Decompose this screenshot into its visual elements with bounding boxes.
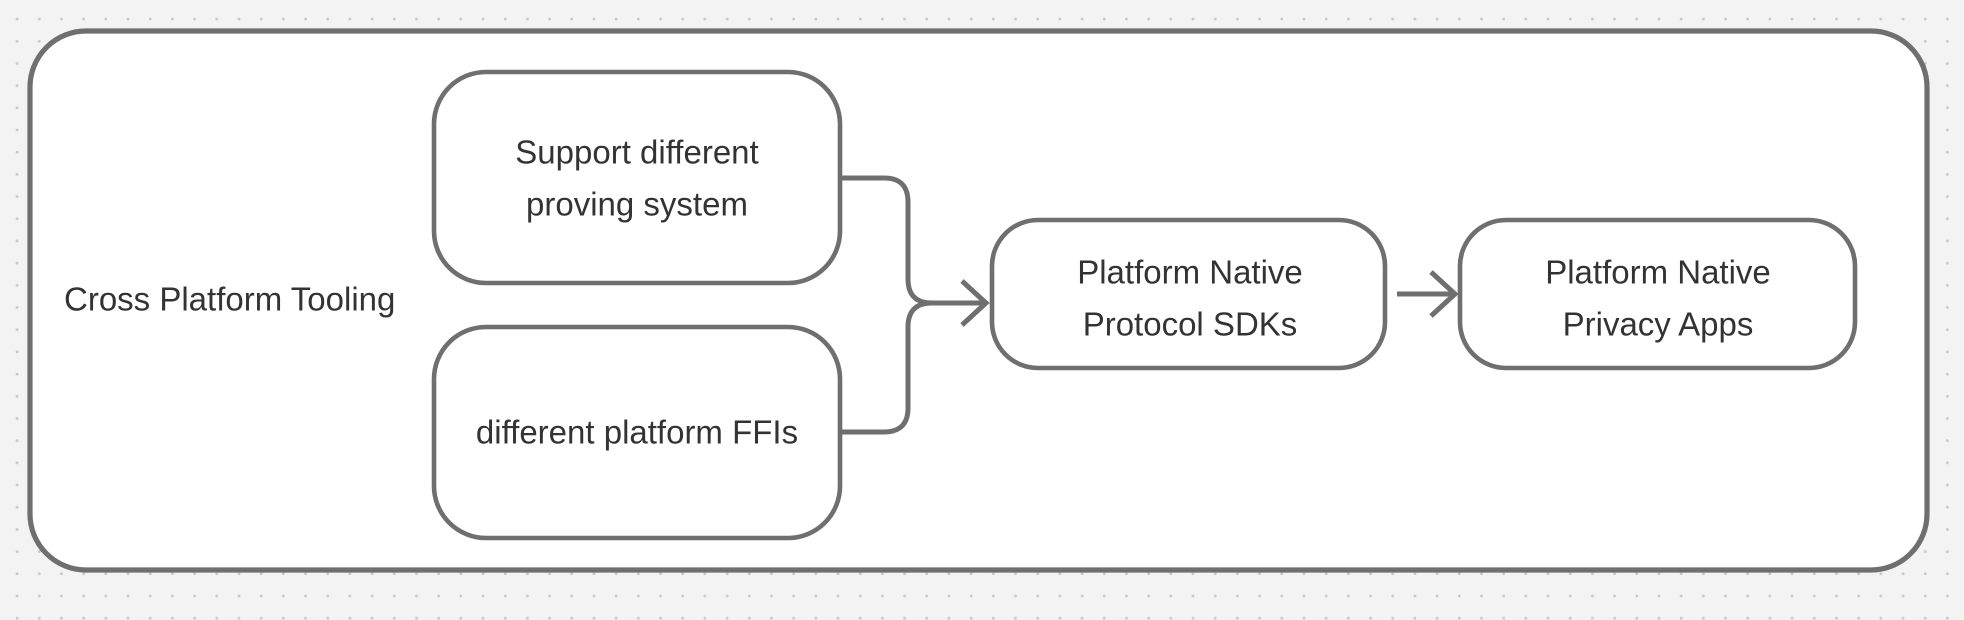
node-label-different-platform-ffis: different platform FFIs xyxy=(476,414,798,451)
node-platform-native-privacy-apps[interactable] xyxy=(1460,220,1855,368)
node-label-support-different-proving-system-line1: Support different xyxy=(515,134,758,171)
diagram-canvas: Cross Platform Tooling Support different… xyxy=(0,0,1964,620)
node-label-platform-native-privacy-apps-line1: Platform Native xyxy=(1545,254,1771,291)
node-label-platform-native-protocol-sdks-line1: Platform Native xyxy=(1077,254,1303,291)
node-label-support-different-proving-system-line2: proving system xyxy=(526,186,748,223)
flowchart-svg: Cross Platform Tooling Support different… xyxy=(0,0,1964,620)
node-label-platform-native-protocol-sdks-line2: Protocol SDKs xyxy=(1083,306,1298,343)
node-platform-native-protocol-sdks[interactable] xyxy=(992,220,1385,368)
node-label-platform-native-privacy-apps-line2: Privacy Apps xyxy=(1563,306,1754,343)
node-support-different-proving-system[interactable] xyxy=(434,72,840,283)
cluster-label-cross-platform-tooling: Cross Platform Tooling xyxy=(64,281,395,318)
